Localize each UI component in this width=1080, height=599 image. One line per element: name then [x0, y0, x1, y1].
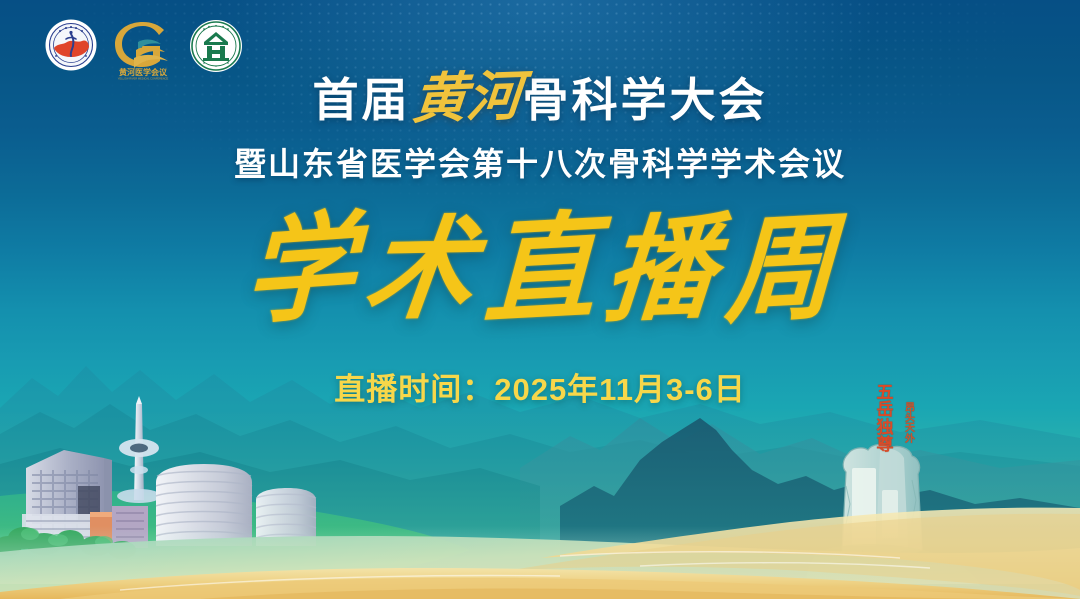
main-title-suffix: 骨科学大会 — [523, 74, 768, 126]
main-title: 首届黄河骨科学大会 — [0, 68, 1080, 126]
shandong-medical-association-icon — [44, 18, 98, 72]
shandong-university-hospital-icon — [188, 18, 244, 74]
conference-poster: 黄河医学会议 YELLOW RIVER MEDICAL CONFERENCE — [0, 0, 1080, 599]
main-title-gold: 黄河 — [408, 66, 526, 128]
broadcast-date-block: 直播时间：2025年11月3-6日 — [0, 364, 1080, 409]
main-title-prefix: 首届 — [313, 74, 411, 126]
subtitle: 暨山东省医学会第十八次骨科学学术会议 — [0, 139, 1080, 185]
logo-shandong-university-hospital — [188, 18, 244, 74]
headline-block: 首届黄河骨科学大会 暨山东省医学会第十八次骨科学学术会议 — [0, 68, 1080, 185]
scenery-illustration — [0, 300, 1080, 599]
logo-shandong-medical-association — [44, 18, 98, 72]
broadcast-date: 直播时间：2025年11月3-6日 — [334, 364, 746, 409]
